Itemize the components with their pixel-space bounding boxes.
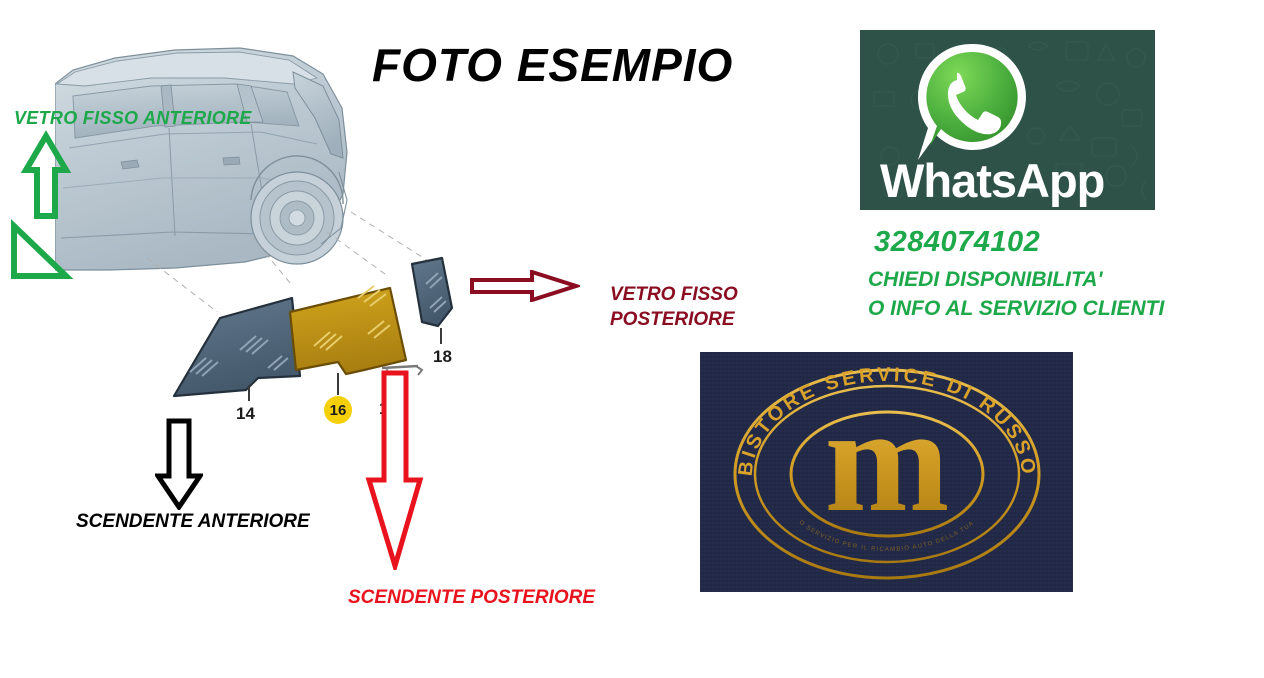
whatsapp-banner[interactable]: WhatsApp (860, 30, 1155, 210)
label-vetro-fisso-posteriore: VETRO FISSO POSTERIORE (610, 282, 738, 332)
part-14-shape (174, 298, 300, 396)
red-long-down-arrow-icon (362, 370, 424, 570)
label-vetro-fisso-anteriore: VETRO FISSO ANTERIORE (14, 108, 252, 129)
page-title: FOTO ESEMPIO (372, 38, 733, 92)
label-vetro-fisso-posteriore-line1: VETRO FISSO (610, 282, 738, 307)
seal-monogram: m (825, 377, 950, 543)
whatsapp-phone-number[interactable]: 3284074102 (874, 226, 1040, 259)
shop-seal-photo: MRICAMBISTORE SERVICE DI RUSSO MARCO m A… (700, 352, 1073, 592)
leader-line-14 (248, 385, 250, 401)
whatsapp-wordmark: WhatsApp (880, 156, 1135, 206)
whatsapp-logo-icon (908, 38, 1038, 168)
green-arrow-and-triangle-icon (6, 130, 76, 280)
part-18-shape (412, 258, 452, 326)
contact-line-2: O INFO AL SERVIZIO CLIENTI (868, 297, 1164, 321)
leader-line-16 (337, 373, 339, 395)
label-vetro-fisso-posteriore-line2: POSTERIORE (610, 307, 738, 332)
part-16-shape (290, 286, 406, 374)
poster-canvas: 14 16 17 18 FOTO ESEMPIO VETRO FISSO ANT… (0, 0, 1264, 678)
leader-line-18 (440, 328, 442, 344)
dark-red-right-arrow-icon (470, 270, 580, 302)
contact-line-1: CHIEDI DISPONIBILITA' (868, 268, 1102, 292)
part-number-16-badge: 16 (324, 396, 352, 424)
part-number-18: 18 (433, 347, 452, 367)
svg-text:m: m (825, 377, 950, 543)
label-scendente-posteriore: SCENDENTE POSTERIORE (348, 587, 595, 609)
black-down-arrow-icon (155, 418, 203, 510)
part-number-14: 14 (236, 404, 255, 424)
label-scendente-anteriore: SCENDENTE ANTERIORE (76, 511, 310, 533)
